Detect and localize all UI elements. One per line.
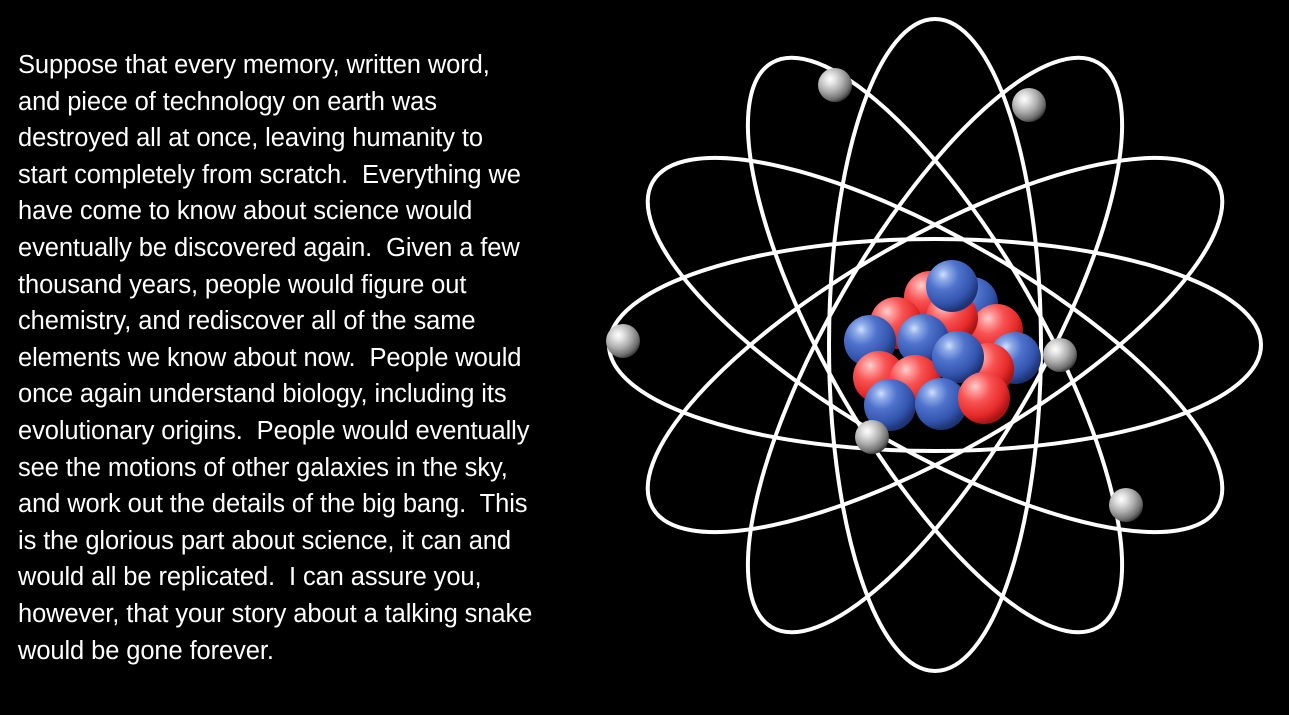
quote-line: would all be replicated. I can assure yo… xyxy=(18,559,558,596)
electron-sphere xyxy=(1012,88,1046,122)
electron-sphere xyxy=(818,68,852,102)
quote-line: once again understand biology, including… xyxy=(18,376,558,413)
quote-line: have come to know about science would xyxy=(18,193,558,230)
atom-icon xyxy=(560,0,1289,715)
electron-sphere xyxy=(606,324,640,358)
slide-canvas: Suppose that every memory, written word,… xyxy=(0,0,1289,715)
quote-line: eventually be discovered again. Given a … xyxy=(18,230,558,267)
quote-line: and piece of technology on earth was xyxy=(18,84,558,121)
quote-line: would be gone forever. xyxy=(18,633,558,670)
quote-line: Suppose that every memory, written word, xyxy=(18,47,558,84)
electron-sphere xyxy=(855,420,889,454)
atom-diagram xyxy=(560,0,1289,715)
quote-line: destroyed all at once, leaving humanity … xyxy=(18,120,558,157)
quote-line: evolutionary origins. People would event… xyxy=(18,413,558,450)
quote-text-block: Suppose that every memory, written word,… xyxy=(18,47,558,669)
electron-sphere xyxy=(1043,338,1077,372)
proton-sphere xyxy=(958,372,1010,424)
quote-line: is the glorious part about science, it c… xyxy=(18,523,558,560)
quote-line: chemistry, and rediscover all of the sam… xyxy=(18,303,558,340)
quote-line: start completely from scratch. Everythin… xyxy=(18,157,558,194)
neutron-sphere xyxy=(926,260,978,312)
quote-line: elements we know about now. People would xyxy=(18,340,558,377)
quote-line: see the motions of other galaxies in the… xyxy=(18,450,558,487)
electron-sphere xyxy=(1109,488,1143,522)
quote-line: and work out the details of the big bang… xyxy=(18,486,558,523)
quote-line: however, that your story about a talking… xyxy=(18,596,558,633)
quote-line: thousand years, people would figure out xyxy=(18,267,558,304)
